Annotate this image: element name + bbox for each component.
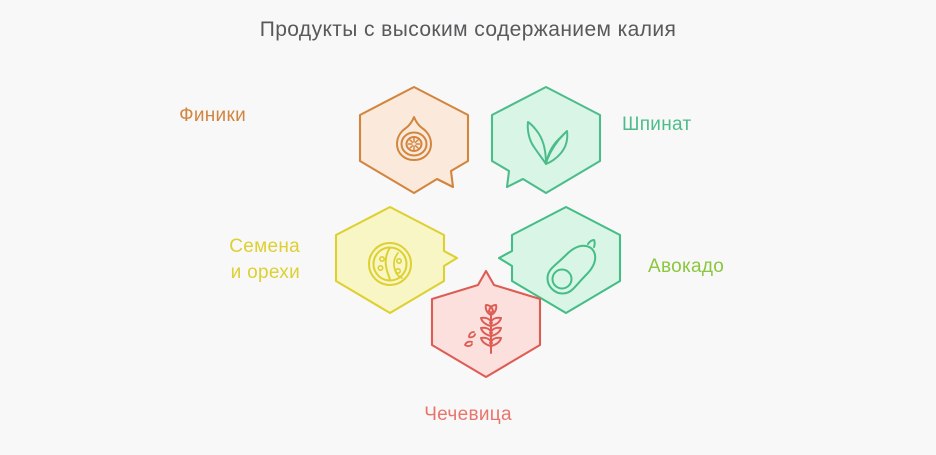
infographic-canvas: Продукты с высоким содержанием калия (0, 0, 936, 455)
badge-seeds-and-nuts[interactable] (328, 204, 452, 328)
label-seeds-line-1: Семена (229, 234, 300, 260)
label-seeds-line-2: и орехи (229, 260, 300, 286)
page-title: Продукты с высоким содержанием калия (0, 18, 936, 42)
label-spinach-line-1: Шпинат (622, 112, 691, 138)
badge-spinach[interactable] (484, 84, 608, 208)
label-lentils-line-1: Чечевица (424, 402, 512, 428)
label-dates: Финики (179, 103, 246, 129)
label-seeds-and-nuts: Семена и орехи (229, 234, 300, 285)
label-lentils: Чечевица (424, 402, 512, 428)
label-dates-line-1: Финики (179, 103, 246, 129)
badge-dates[interactable] (352, 84, 476, 208)
hexagon-shape-spinach (492, 87, 600, 193)
label-spinach: Шпинат (622, 112, 691, 138)
label-avocado: Авокадо (648, 254, 724, 280)
label-avocado-line-1: Авокадо (648, 254, 724, 280)
